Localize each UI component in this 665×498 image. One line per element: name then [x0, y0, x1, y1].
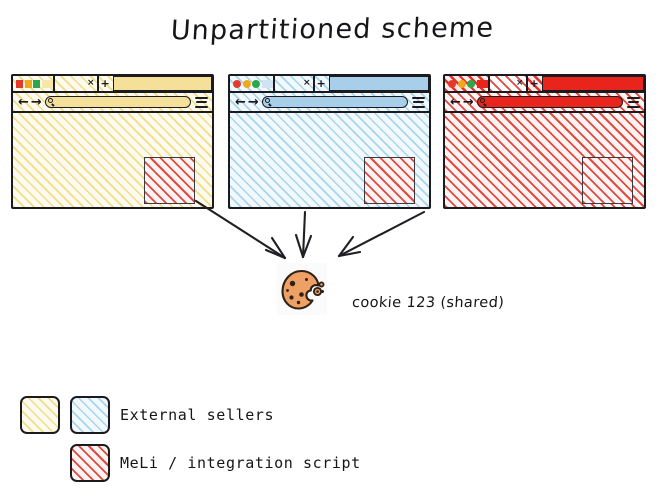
legend-swatch-yellow [20, 396, 60, 434]
legend-label-external-sellers: External sellers [120, 406, 274, 424]
legend: External sellers MeLi / integration scri… [0, 0, 665, 498]
diagram-canvas: Unpartitioned scheme × + [0, 0, 665, 498]
legend-label-meli-integration-script: MeLi / integration script [120, 454, 361, 472]
legend-swatch-red [70, 444, 110, 482]
legend-swatch-blue [70, 396, 110, 434]
